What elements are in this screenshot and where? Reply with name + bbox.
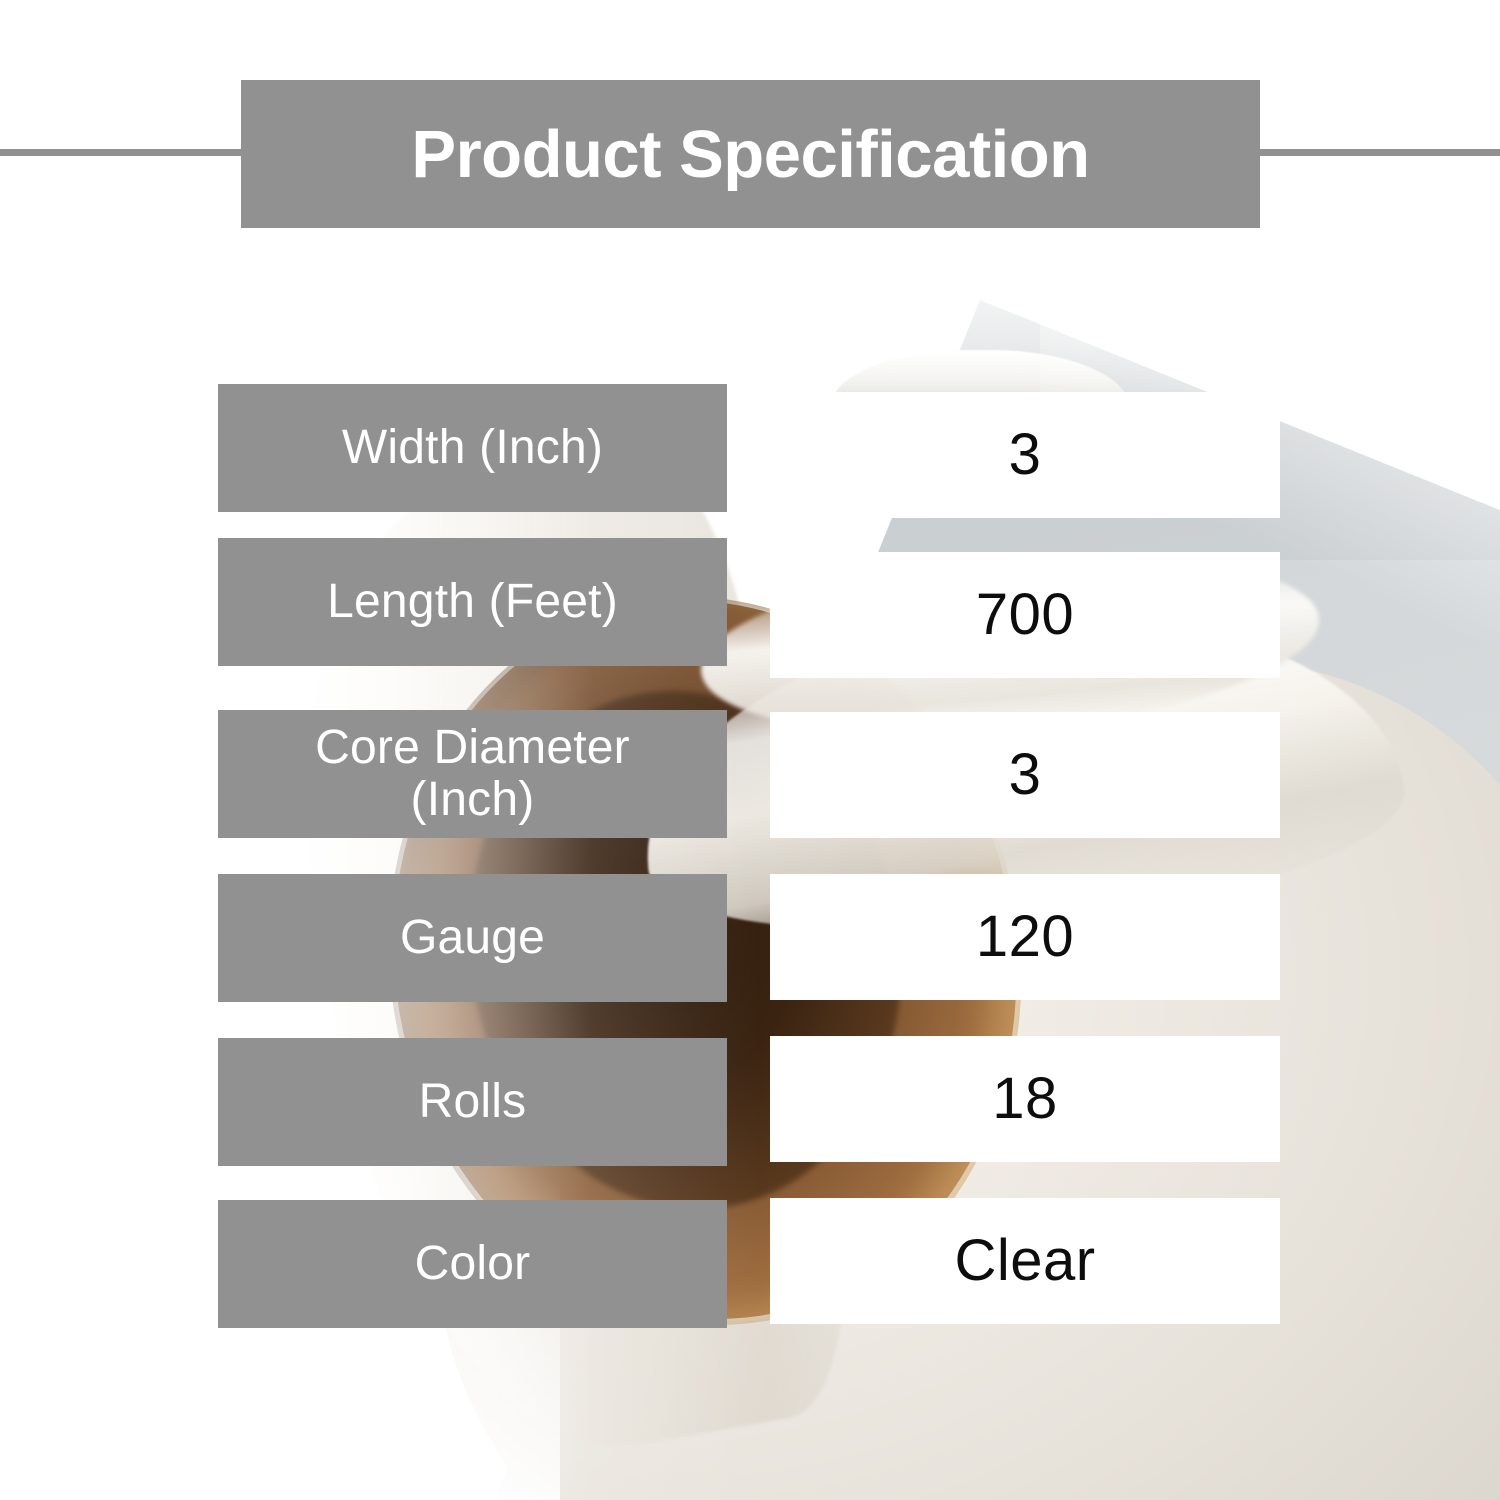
page-title-block: Product Specification (0, 0, 1500, 300)
spec-value-text: 18 (992, 1070, 1058, 1128)
spec-label-cell: Gauge (218, 874, 727, 1002)
spec-value-cell: Clear (770, 1198, 1280, 1324)
spec-label-cell: Width (Inch) (218, 384, 727, 512)
spec-label-text: Rolls (419, 1076, 527, 1128)
spec-value-cell: 3 (770, 712, 1280, 838)
spec-label-cell: Color (218, 1200, 727, 1328)
spec-value-text: Clear (954, 1232, 1095, 1290)
spec-label-text: Core Diameter(Inch) (315, 722, 630, 826)
spec-value-text: 3 (1009, 746, 1042, 804)
title-rule-right (1256, 149, 1500, 156)
spec-label-cell: Rolls (218, 1038, 727, 1166)
spec-value-text: 120 (976, 908, 1074, 966)
page-title: Product Specification (411, 121, 1089, 188)
spec-value-text: 3 (1009, 426, 1042, 484)
spec-label-cell: Core Diameter(Inch) (218, 710, 727, 838)
spec-value-cell: 120 (770, 874, 1280, 1000)
spec-label-text: Width (Inch) (342, 422, 603, 474)
spec-value-cell: 700 (770, 552, 1280, 678)
title-banner: Product Specification (241, 80, 1260, 228)
product-specification-page: Product Specification Width (Inch)3Lengt… (0, 0, 1500, 1500)
spec-label-text: Length (Feet) (327, 576, 618, 628)
spec-value-cell: 18 (770, 1036, 1280, 1162)
spec-label-text: Color (415, 1238, 531, 1290)
title-rule-left (0, 149, 245, 156)
spec-label-text: Gauge (400, 912, 545, 964)
spec-value-cell: 3 (770, 392, 1280, 518)
spec-value-text: 700 (976, 586, 1074, 644)
spec-label-cell: Length (Feet) (218, 538, 727, 666)
